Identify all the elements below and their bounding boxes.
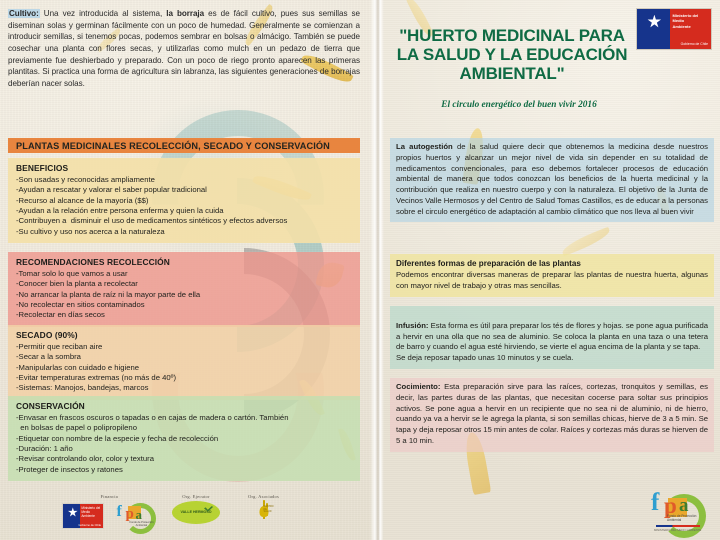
list-item: -Conocer bien la planta a recolectar — [16, 279, 352, 289]
flag-blue-lower — [63, 519, 80, 528]
fpa-letter-a: a — [135, 508, 142, 521]
gobierno-label: Gobierno de Chile — [78, 523, 101, 527]
block-conservacion-heading: CONSERVACIÓN — [16, 401, 352, 411]
fpa-letter-f: f — [651, 490, 659, 515]
block-infusion-body: Esta forma es útil para preparar los tés… — [396, 321, 708, 362]
logo-group-ejecutor: Org. Ejecutor VALLE HERMOSO — [172, 494, 220, 524]
list-item: -Su cultivo y uso nos acerca a la natura… — [16, 227, 352, 237]
list-item: -Sistemas: Manojos, bandejas, marcos — [16, 383, 352, 393]
list-item: -Permitir que reciban aire — [16, 342, 352, 352]
block-beneficios-heading: BENEFICIOS — [16, 163, 352, 173]
fpa-caption: Fondo de Protección Ambiental — [126, 521, 156, 527]
block-secado: SECADO (90%) -Permitir que reciban aire … — [8, 325, 360, 400]
list-item: -No arrancar la planta de raíz ni la may… — [16, 290, 352, 300]
block-recomendaciones-list: -Tomar solo lo que vamos a usar -Conocer… — [16, 269, 352, 321]
block-autogestion-lead: La autogestión — [396, 142, 453, 151]
left-page: Cultivo: Una vez introducida al sistema,… — [0, 0, 370, 540]
list-item: -Duración: 1 año — [16, 444, 352, 454]
block-secado-heading: SECADO (90%) — [16, 330, 352, 340]
intro-paragraph: Cultivo: Una vez introducida al sistema,… — [8, 8, 360, 89]
block-cocimiento: Cocimiento: Esta preparación sirve para … — [390, 378, 714, 452]
footer-logos: Financia Ministerio del Medio Ambiente G… — [0, 484, 370, 540]
valle-hermoso-label: VALLE HERMOSO — [180, 511, 211, 515]
list-item: -Evitar temperaturas extremas (no más de… — [16, 373, 352, 383]
flag-blue-field — [637, 9, 670, 49]
block-conservacion-list: -Envasar en frascos oscuros o tapadas o … — [16, 413, 352, 475]
block-recomendaciones-heading: RECOMENDACIONES RECOLECCIÓN — [16, 257, 352, 267]
logo-caption-asociados: Org. Asociados — [248, 494, 279, 499]
block-formas-body: Podemos encontrar diversas maneras de pr… — [396, 270, 708, 290]
right-page: Ministerio delMedioAmbiente Gobierno de … — [384, 0, 720, 540]
fpa-caption: Fondo de Protección Ambiental — [667, 514, 706, 522]
list-item: -Ayudan a la relación entre persona enfe… — [16, 206, 352, 216]
block-infusion: Infusión: Esta forma es útil para prepar… — [390, 306, 714, 369]
fpa-logo: f p a Fondo de Protección Ambiental — [112, 501, 156, 531]
block-beneficios-list: -Son usadas y reconocidas ampliamente -A… — [16, 175, 352, 237]
ministerio-medio-ambiente-logo: Ministerio del Medio Ambiente Gobierno d… — [62, 503, 104, 529]
block-conservacion: CONSERVACIÓN -Envasar en frascos oscuros… — [8, 396, 360, 481]
block-secado-list: -Permitir que reciban aire -Secar a la s… — [16, 342, 352, 394]
ministry-label: Ministerio delMedioAmbiente — [673, 13, 699, 29]
fpa-ministry-label: MINISTERIO DEL MEDIO AMBIENTE — [654, 528, 701, 532]
block-formas-preparacion: Diferentes formas de preparación de las … — [390, 254, 714, 297]
logo-group-asociados: Org. Asociados CENTRO DE SALUD — [248, 494, 279, 519]
list-item: -Ayudan a rescatar y valorar el saber po… — [16, 185, 352, 195]
list-item: -Secar a la sombra — [16, 352, 352, 362]
ministry-label: Ministerio del Medio Ambiente — [81, 506, 103, 518]
block-autogestion: La autogestión de la salud quiere decir … — [390, 138, 714, 222]
section-bar-plantas-medicinales: PLANTAS MEDICINALES RECOLECCIÓN, SECADO … — [8, 138, 360, 153]
list-item: -Contribuyen a disminuir el uso de medic… — [16, 216, 352, 226]
block-cocimiento-body: Esta preparación sirve para las raíces, … — [396, 382, 708, 445]
list-item: -Proteger de insectos y ratones — [16, 465, 352, 475]
block-recomendaciones: RECOMENDACIONES RECOLECCIÓN -Tomar solo … — [8, 252, 360, 327]
block-autogestion-body: de la salud quiere decir que obtenemos l… — [396, 142, 708, 216]
block-formas-heading: Diferentes formas de preparación de las … — [396, 258, 708, 269]
list-item: -Manipularlas con cuidado e higiene — [16, 363, 352, 373]
logo-group-financia: Financia Ministerio del Medio Ambiente G… — [62, 494, 156, 531]
page-gutter — [370, 0, 384, 540]
fpa-logo: f p a Fondo de Protección Ambiental MINI… — [648, 488, 706, 532]
block-beneficios: BENEFICIOS -Son usadas y reconocidas amp… — [8, 158, 360, 243]
list-item: -Revisar controlando olor, color y textu… — [16, 454, 352, 464]
ministerio-medio-ambiente-logo: Ministerio delMedioAmbiente Gobierno de … — [636, 8, 712, 50]
fpa-letter-f: f — [116, 504, 121, 520]
list-item: -Recolectar en días secos — [16, 310, 352, 320]
centro-salud-logo: CENTRO DE SALUD — [263, 500, 265, 519]
poster-page: Cultivo: Una vez introducida al sistema,… — [0, 0, 720, 540]
page-subtitle: El circulo energético del buen vivir 201… — [394, 100, 644, 110]
logo-caption-ejecutor: Org. Ejecutor — [172, 494, 220, 499]
list-item: -Tomar solo lo que vamos a usar — [16, 269, 352, 279]
list-item: -Son usadas y reconocidas ampliamente — [16, 175, 352, 185]
gobierno-label: Gobierno de Chile — [681, 42, 708, 46]
intro-body-text: Una vez introducida al sistema, la borra… — [8, 9, 360, 88]
fpa-letter-a: a — [679, 496, 689, 515]
fpa-letter-p: p — [125, 507, 133, 522]
list-item: -Envasar en frascos oscuros o tapadas o … — [16, 413, 352, 434]
fpa-flag-stripe — [656, 525, 700, 528]
valle-hermoso-logo: VALLE HERMOSO — [172, 501, 220, 524]
block-cocimiento-lead: Cocimiento: — [396, 382, 440, 391]
intro-lead-label: Cultivo: — [8, 9, 40, 18]
list-item: -Recurso al alcance de la mayoría ($$) — [16, 196, 352, 206]
list-item: -Etiquetar con nombre de la especie y fe… — [16, 434, 352, 444]
page-title: "HUERTO MEDICINAL PARA LA SALUD Y LA EDU… — [394, 26, 630, 83]
list-item: -No recolectar en sitios contaminados — [16, 300, 352, 310]
intro-bold-phrase: la borraja — [166, 9, 204, 18]
logo-caption-financia: Financia — [62, 494, 156, 499]
block-infusion-lead: Infusión: — [396, 321, 428, 330]
